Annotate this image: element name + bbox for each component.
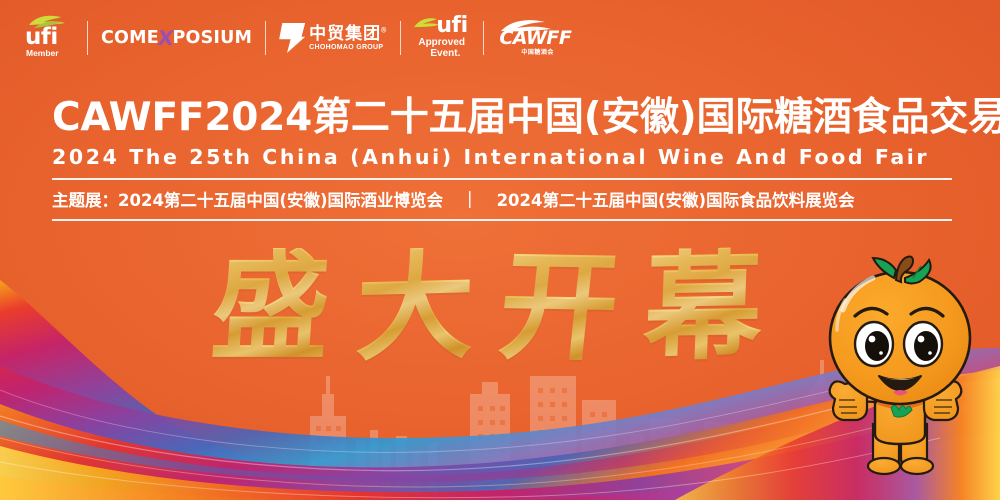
ufi-member-label: Member <box>26 49 59 58</box>
ufi-approved-event-logo: ufi Approved Event. <box>414 10 470 66</box>
ufi-member-logo: ufi Member <box>22 10 74 66</box>
logo-divider <box>265 21 266 55</box>
cawff-cn-label: 中国糖酒会 <box>521 47 554 56</box>
zhongmao-emblem-icon <box>279 23 305 53</box>
zhongmao-en-name: CHOHOMAO GROUP <box>309 44 387 51</box>
cawff-logo: CAWFF 中国糖酒会 <box>497 10 559 66</box>
orange-mascot <box>793 252 998 482</box>
event-title-cn: CAWFF2024第二十五届中国(安徽)国际糖酒食品交易会 <box>52 98 952 139</box>
comexposium-part2: POSIUM <box>173 28 253 48</box>
event-title-en: 2024 The 25th China (Anhui) Internationa… <box>52 145 952 169</box>
ufi-approved-line2: Event. <box>430 49 460 59</box>
mascot-eye-right <box>904 322 942 366</box>
ufi-wordmark: ufi <box>25 26 58 49</box>
registered-mark: ® <box>381 27 387 34</box>
theme-item-2: 2024第二十五届中国(安徽)国际食品饮料展览会 <box>497 187 855 211</box>
theme-exhibitions-row: 主题展： 2024第二十五届中国(安徽)国际酒业博览会 | 2024第二十五届中… <box>52 187 952 211</box>
partner-logo-strip: ufi Member COME X POSIUM 中贸集团® CHOHOMAO … <box>22 10 559 66</box>
theme-item-1: 2024第二十五届中国(安徽)国际酒业博览会 <box>118 187 443 211</box>
ufi-approved-line1: Approved <box>418 38 465 48</box>
comexposium-x-icon: X <box>156 26 175 50</box>
theme-label: 主题展： <box>52 187 118 211</box>
theme-separator: | <box>467 189 473 208</box>
logo-divider <box>87 21 88 55</box>
zhongmao-cn-name: 中贸集团 <box>309 24 381 43</box>
divider-bottom <box>52 219 952 221</box>
comexposium-part1: COME <box>101 28 159 48</box>
headline-block: CAWFF2024第二十五届中国(安徽)国际糖酒食品交易会 2024 The 2… <box>52 98 952 221</box>
comexposium-logo: COME X POSIUM <box>101 10 252 66</box>
logo-divider <box>400 21 401 55</box>
promo-banner: ufi Member COME X POSIUM 中贸集团® CHOHOMAO … <box>0 0 1000 500</box>
mascot-eye-left <box>855 322 893 366</box>
logo-divider <box>483 21 484 55</box>
cawff-wordmark: CAWFF <box>499 29 571 48</box>
ufi-approved-wordmark: ufi <box>436 15 467 37</box>
divider-top <box>52 178 952 180</box>
zhongmao-group-logo: 中贸集团® CHOHOMAO GROUP <box>279 10 387 66</box>
